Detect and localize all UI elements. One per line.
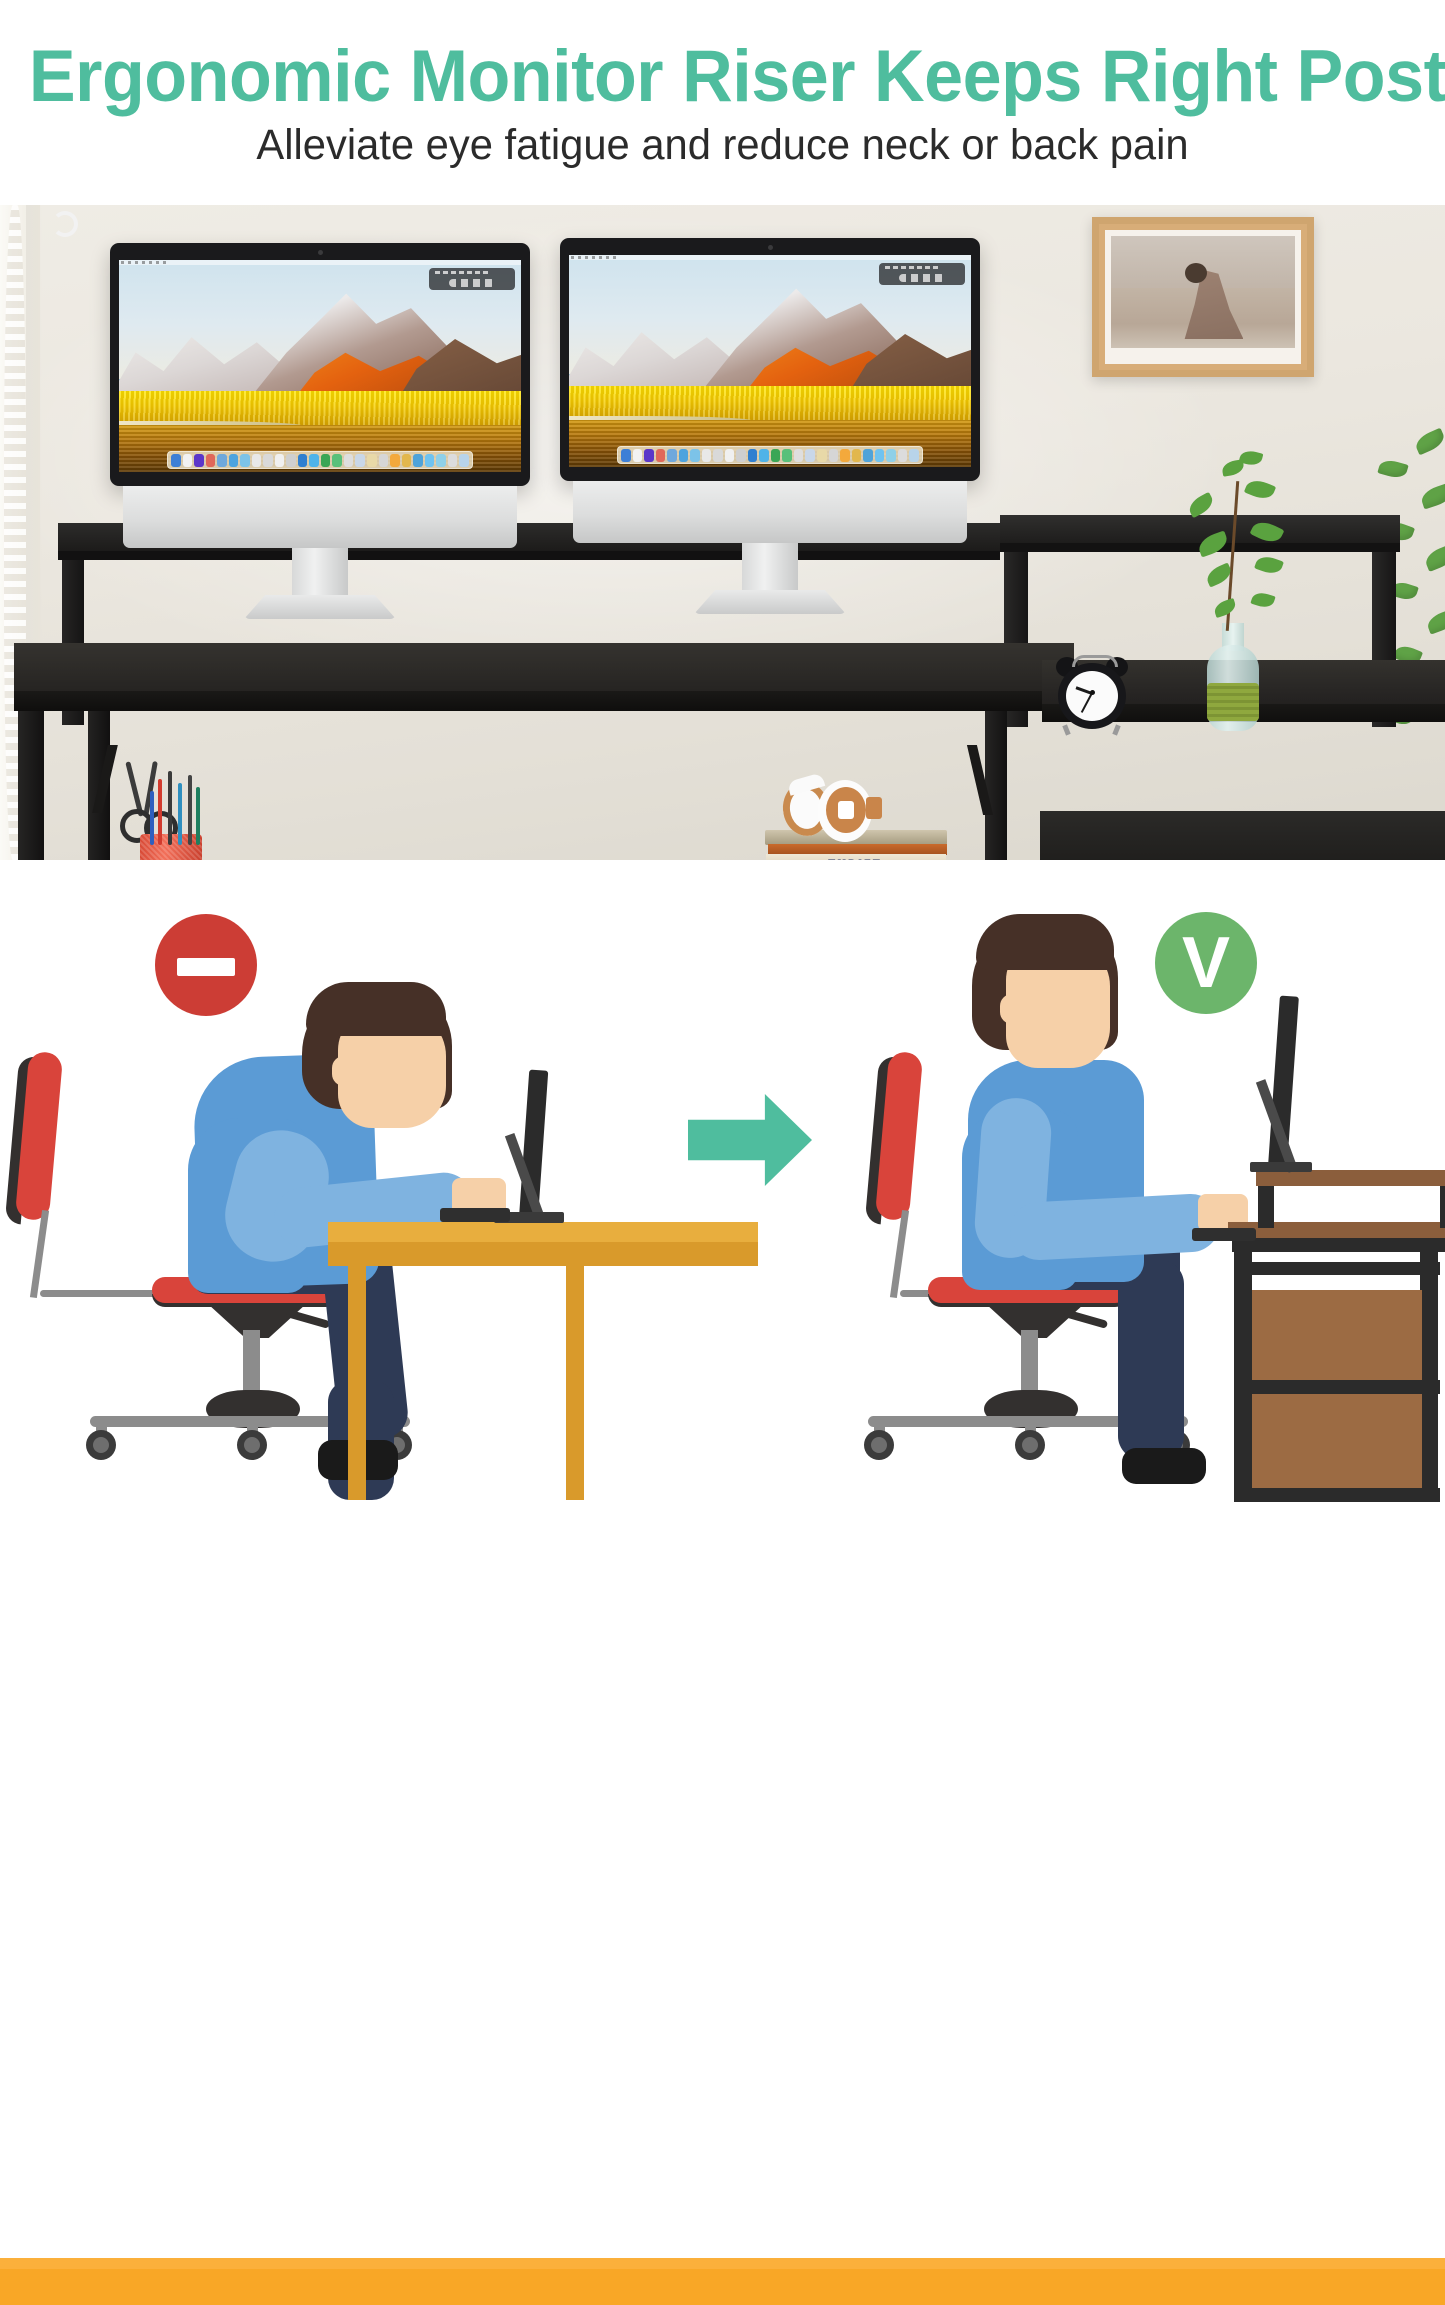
header-block: Ergonomic Monitor Riser Keeps Right Post… (0, 0, 1445, 205)
monitor-right-chin (573, 481, 968, 543)
dock-icon[interactable] (217, 454, 227, 467)
dock-icon[interactable] (240, 454, 250, 467)
bad-desk-leg-right (566, 1266, 584, 1500)
menubar-items (121, 261, 167, 264)
bad-desk-apron (328, 1242, 758, 1266)
person-ear (1000, 994, 1024, 1024)
product-photo: THRIFT EPSON EPSON (0, 205, 1445, 860)
dock-icon[interactable] (332, 454, 342, 467)
monitor-riser-shelf (1256, 1170, 1445, 1186)
desk-leg-right (985, 711, 1007, 860)
widget-controls[interactable] (449, 279, 495, 287)
dock-icon[interactable] (805, 449, 815, 462)
macos-menubar[interactable] (119, 260, 521, 265)
transition-arrow-icon (688, 1094, 812, 1186)
dock-icon[interactable] (667, 449, 677, 462)
dock-icon[interactable] (206, 454, 216, 467)
good-desk-apron (1232, 1238, 1445, 1252)
dock-icon[interactable] (402, 454, 412, 467)
desk-top-left (14, 643, 1074, 691)
dock-icon[interactable] (690, 449, 700, 462)
monitor-right-bezel (560, 238, 980, 481)
plant-leaf (1423, 544, 1445, 572)
macos-dock[interactable] (617, 446, 923, 464)
scissors-icon (118, 761, 172, 839)
person-thigh (1118, 1260, 1184, 1460)
dock-icon[interactable] (817, 449, 827, 462)
pen (188, 775, 192, 845)
pen (196, 787, 200, 845)
desk-leg-left-outer (18, 711, 44, 860)
plant-leaf (1419, 482, 1445, 509)
good-desk-leg-left (1234, 1252, 1252, 1500)
dock-icon[interactable] (759, 449, 769, 462)
dock-icon[interactable] (355, 454, 365, 467)
person-ear (332, 1056, 356, 1086)
macos-menubar[interactable] (569, 255, 971, 260)
dock-icon[interactable] (379, 454, 389, 467)
riser-shelf-right (1000, 515, 1400, 543)
dock-icon[interactable] (344, 454, 354, 467)
dock-icon[interactable] (725, 449, 735, 462)
dock-icon[interactable] (229, 454, 239, 467)
headphone-hinge (866, 797, 882, 819)
product-feature-page: Ergonomic Monitor Riser Keeps Right Post… (0, 0, 1445, 1445)
caster-wheel (864, 1430, 894, 1460)
dock-icon[interactable] (459, 454, 469, 467)
widget-text (885, 266, 941, 269)
check-icon: V (1155, 912, 1257, 1014)
monitor-left-chin (123, 486, 518, 548)
riser-shelf-leg-right (1440, 1186, 1445, 1228)
good-desk-rail (1234, 1262, 1440, 1275)
dock-icon[interactable] (898, 449, 908, 462)
cabinet-divider (1234, 1380, 1440, 1394)
dock-icon[interactable] (886, 449, 896, 462)
dock-icon[interactable] (748, 449, 758, 462)
pen (158, 779, 162, 845)
dock-icon[interactable] (633, 449, 643, 462)
riser-shelf-leg-left (1258, 1186, 1274, 1228)
plant-leaf (1377, 457, 1408, 480)
dock-icon[interactable] (736, 449, 746, 462)
dock-icon[interactable] (321, 454, 331, 467)
cabinet-drawer-top[interactable] (1252, 1290, 1422, 1382)
bad-keyboard[interactable] (440, 1208, 510, 1222)
art-head (1185, 263, 1207, 283)
desk-top-left-edge (14, 691, 1074, 711)
macos-dock[interactable] (167, 451, 473, 469)
check-symbol: V (1155, 918, 1257, 1008)
printer-shelf (1040, 811, 1445, 860)
dock-icon[interactable] (794, 449, 804, 462)
dock-icon[interactable] (194, 454, 204, 467)
person-hair-top (306, 982, 446, 1036)
dock-icon[interactable] (909, 449, 919, 462)
caster-wheel (1015, 1430, 1045, 1460)
dock-icon[interactable] (309, 454, 319, 467)
dock-icon[interactable] (286, 454, 296, 467)
clock-face (1066, 671, 1118, 721)
person-forearm (1009, 1193, 1222, 1262)
posture-comparison: V (0, 860, 1445, 1445)
desktop-widget[interactable] (429, 268, 515, 290)
monitor-left-foot (244, 595, 396, 619)
chair-back-rod (890, 1210, 909, 1298)
dock-icon[interactable] (713, 449, 723, 462)
monitor-right-neck (742, 543, 798, 595)
pen (178, 783, 182, 845)
alarm-clock (1056, 655, 1128, 729)
dock-icon[interactable] (702, 449, 712, 462)
caster-wheel (86, 1430, 116, 1460)
art-image (1111, 236, 1295, 348)
caster-wheel (237, 1430, 267, 1460)
monitor-left-screen (119, 260, 521, 472)
dock-icon[interactable] (425, 454, 435, 467)
riser-shelf-left-edge (58, 551, 1000, 560)
webcam-icon (768, 245, 773, 250)
person-hair-top (976, 914, 1114, 970)
monitor-left-bezel (110, 243, 530, 486)
framed-art-print (1092, 217, 1314, 377)
bad-desk-top (328, 1222, 758, 1242)
plant-leaf (1413, 428, 1445, 456)
pen (150, 791, 154, 845)
dock-icon[interactable] (656, 449, 666, 462)
dock-icon[interactable] (390, 454, 400, 467)
bad-desk-leg-left (348, 1266, 366, 1500)
good-monitor-base (1250, 1162, 1312, 1172)
person-shoe (1122, 1448, 1206, 1484)
headphone-logo (838, 801, 854, 819)
chair-back-rod (30, 1210, 49, 1298)
cup-handle (52, 211, 78, 237)
dock-icon[interactable] (679, 449, 689, 462)
dock-icon[interactable] (863, 449, 873, 462)
chair-tilt-lever (286, 1309, 331, 1329)
dock-icon[interactable] (644, 449, 654, 462)
no-entry-icon (155, 914, 257, 1016)
dock-icon[interactable] (183, 454, 193, 467)
monitor-left-neck (292, 548, 348, 600)
desktop-widget[interactable] (879, 263, 965, 285)
dock-icon[interactable] (875, 449, 885, 462)
dock-icon[interactable] (840, 449, 850, 462)
webcam-icon (318, 250, 323, 255)
dock-icon[interactable] (367, 454, 377, 467)
dock-icon[interactable] (298, 454, 308, 467)
widget-text (435, 271, 491, 274)
menubar-items (571, 256, 617, 259)
dock-icon[interactable] (782, 449, 792, 462)
monitor-right-foot (694, 590, 846, 614)
widget-controls[interactable] (899, 274, 945, 282)
dock-icon[interactable] (275, 454, 285, 467)
monitor-right-screen (569, 255, 971, 467)
plant-leaf (1425, 608, 1445, 634)
vase-knit-wrap (1207, 683, 1259, 721)
dock-icon[interactable] (448, 454, 458, 467)
cabinet-base (1234, 1488, 1440, 1502)
cabinet-drawer-bottom[interactable] (1252, 1394, 1422, 1490)
chair-tilt-lever (1064, 1309, 1109, 1329)
dock-icon[interactable] (829, 449, 839, 462)
floor-highlight (0, 2258, 1445, 2269)
dock-icon[interactable] (263, 454, 273, 467)
dock-icon[interactable] (171, 454, 181, 467)
dock-icon[interactable] (771, 449, 781, 462)
page-subtitle: Alleviate eye fatigue and reduce neck or… (22, 124, 1424, 167)
pen (168, 771, 172, 845)
dock-icon[interactable] (413, 454, 423, 467)
good-keyboard[interactable] (1192, 1228, 1256, 1241)
page-title: Ergonomic Monitor Riser Keeps Right Post… (29, 40, 1416, 113)
clock-center-dot (1090, 690, 1095, 695)
dock-icon[interactable] (852, 449, 862, 462)
dock-icon[interactable] (621, 449, 631, 462)
good-desk-leg-right (1420, 1252, 1438, 1500)
dock-icon[interactable] (252, 454, 262, 467)
dock-icon[interactable] (436, 454, 446, 467)
